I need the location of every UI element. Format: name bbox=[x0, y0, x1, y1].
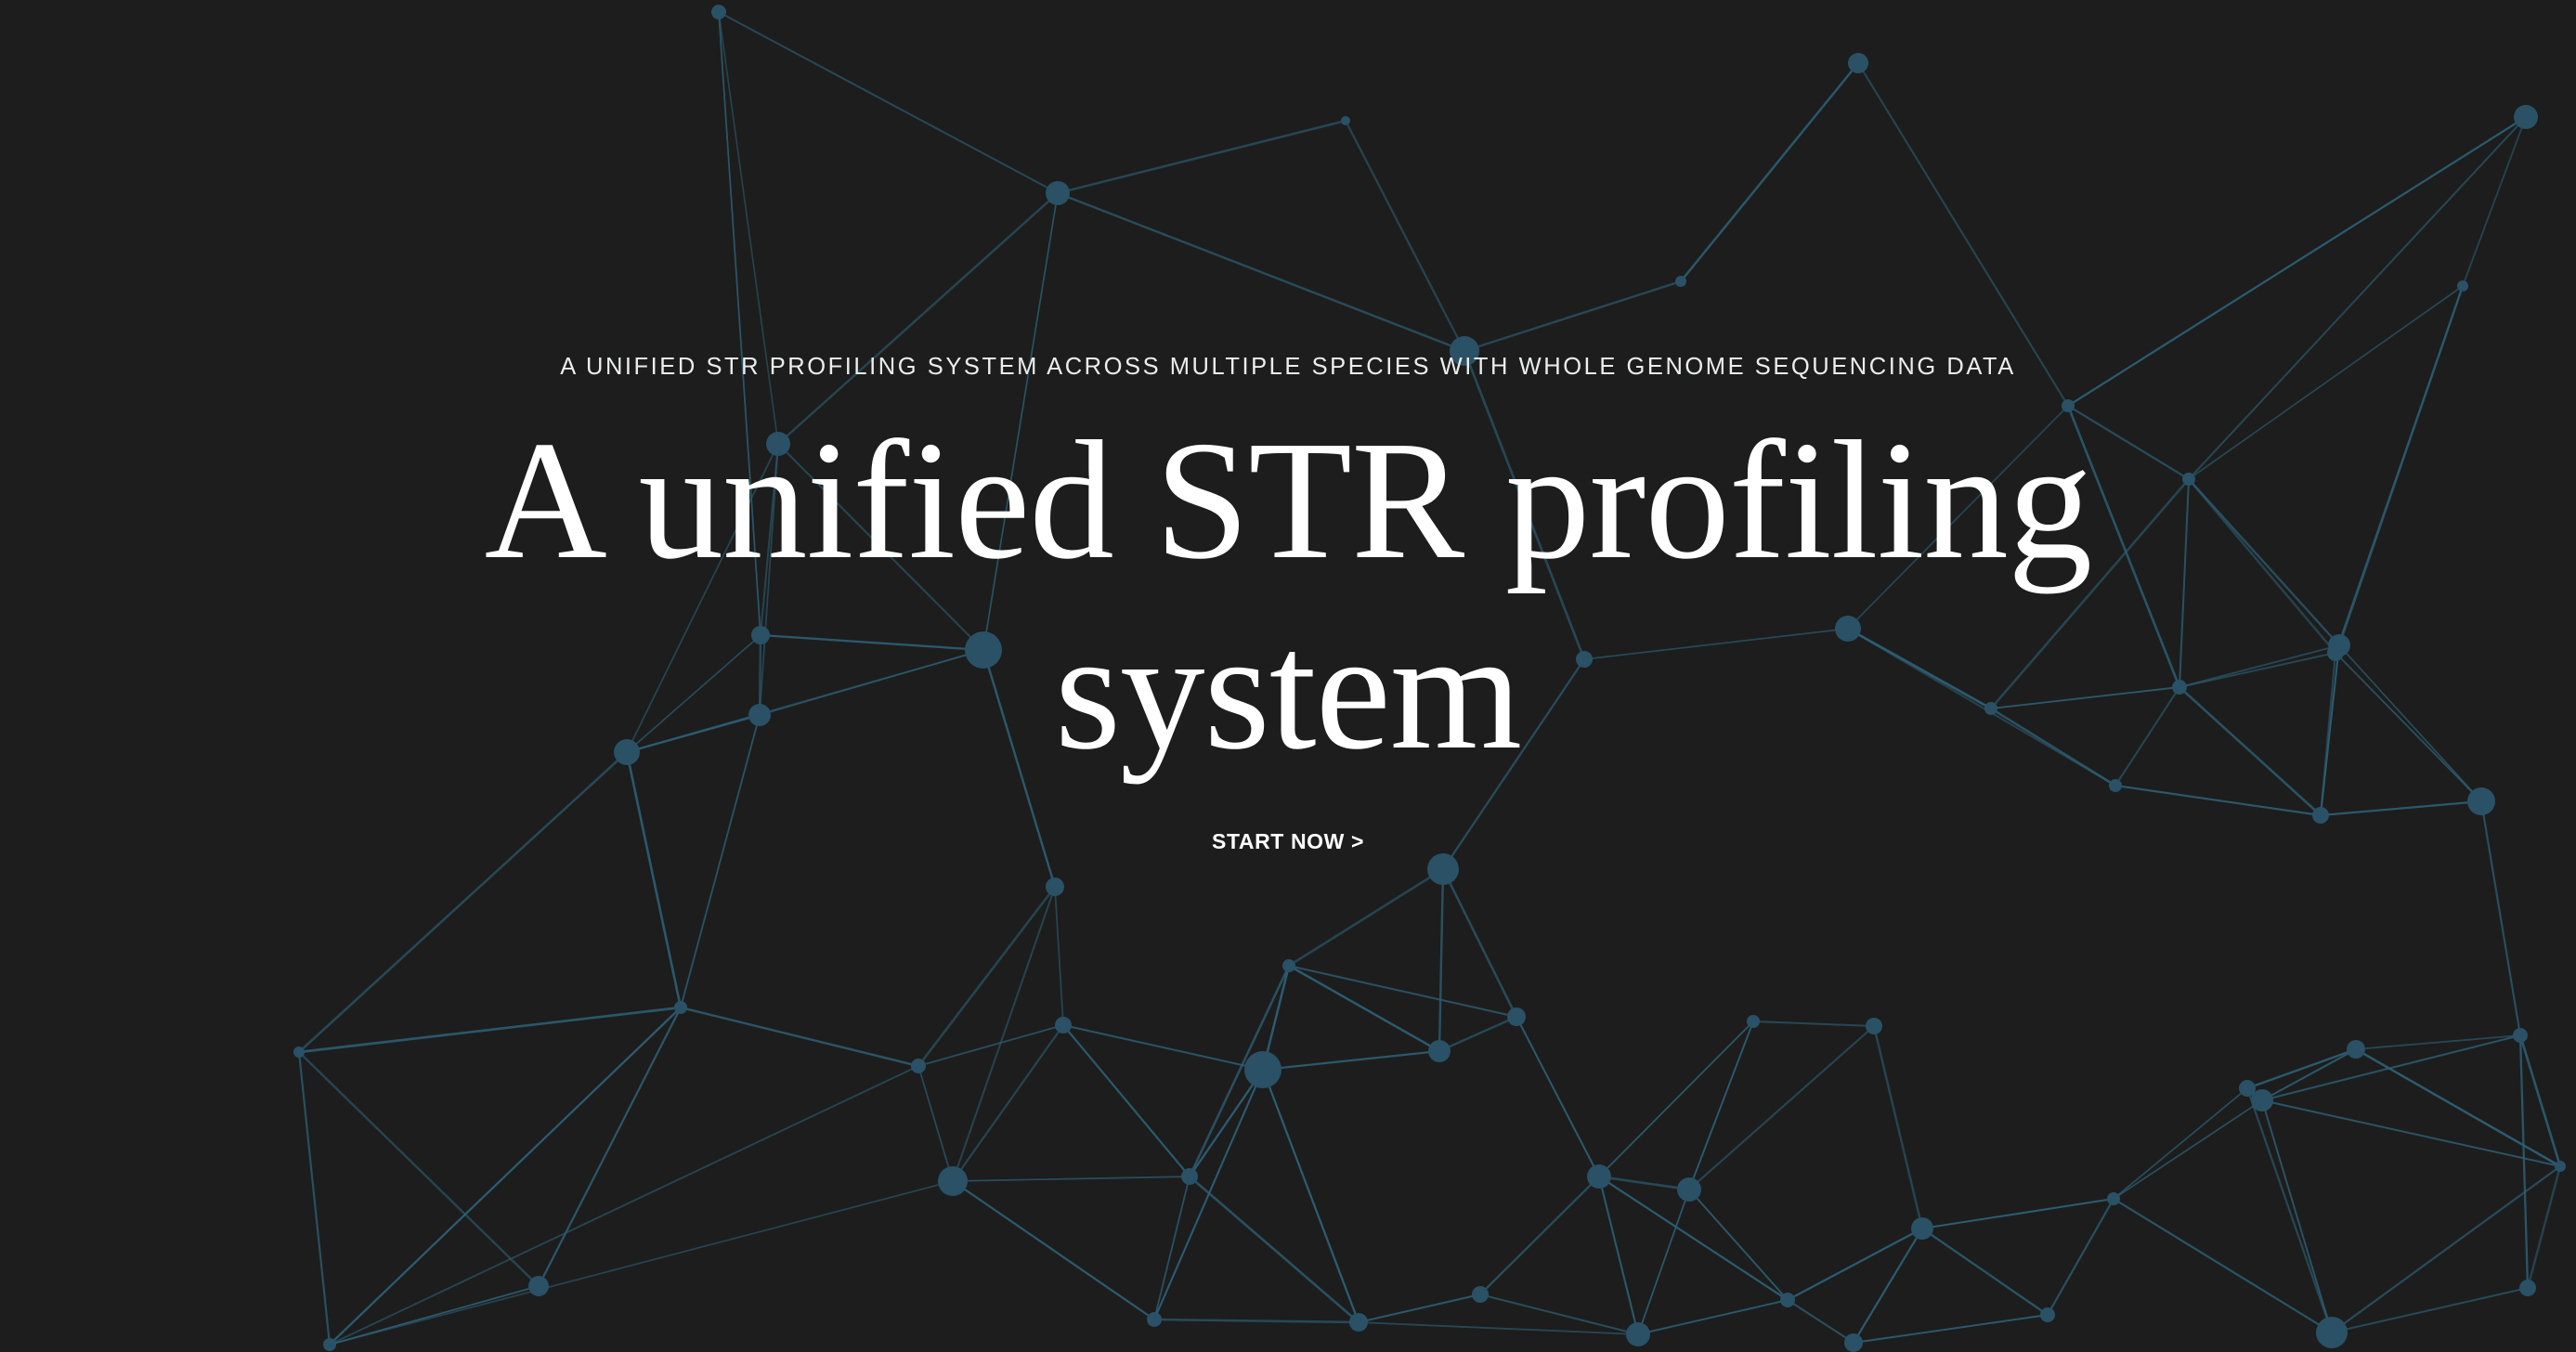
network-link bbox=[1689, 1026, 1874, 1189]
network-node bbox=[911, 1059, 926, 1073]
network-link bbox=[1599, 1176, 1689, 1189]
network-node bbox=[1046, 877, 1064, 896]
network-node bbox=[1055, 1017, 1072, 1033]
network-link bbox=[1154, 1070, 1263, 1319]
network-node bbox=[1244, 1051, 1281, 1088]
network-node bbox=[1507, 1007, 1526, 1026]
network-node bbox=[1780, 1293, 1795, 1307]
network-node bbox=[2457, 280, 2468, 292]
network-link bbox=[1922, 1228, 2048, 1315]
network-link bbox=[330, 1007, 681, 1345]
network-link bbox=[1854, 1315, 2048, 1343]
network-node bbox=[1282, 959, 1295, 972]
network-link bbox=[1063, 1025, 1263, 1070]
network-link bbox=[1190, 1176, 1359, 1322]
network-link bbox=[299, 1052, 539, 1286]
network-link bbox=[2339, 645, 2481, 801]
network-node bbox=[2312, 807, 2329, 824]
network-link bbox=[2262, 1049, 2356, 1100]
network-link bbox=[953, 1176, 1190, 1181]
network-link bbox=[2114, 1100, 2262, 1199]
network-link bbox=[539, 1007, 681, 1286]
network-link bbox=[953, 1181, 1154, 1319]
network-link bbox=[1063, 1025, 1190, 1176]
network-link bbox=[1443, 869, 1516, 1017]
network-link bbox=[2262, 1100, 2560, 1166]
network-link bbox=[1289, 869, 1443, 966]
network-link bbox=[1289, 966, 1439, 1051]
network-link bbox=[2247, 1088, 2332, 1332]
network-link bbox=[2321, 801, 2481, 815]
network-node bbox=[1046, 181, 1070, 205]
network-node bbox=[528, 1276, 549, 1296]
network-node bbox=[2514, 105, 2538, 129]
network-link bbox=[299, 1007, 681, 1052]
start-now-button[interactable]: START NOW > bbox=[1210, 825, 1366, 858]
network-node bbox=[674, 1001, 687, 1014]
network-link bbox=[1681, 63, 1858, 281]
network-link bbox=[1638, 1189, 1689, 1334]
network-node bbox=[1747, 1015, 1760, 1028]
network-node bbox=[2239, 1080, 2256, 1097]
network-link bbox=[1154, 1319, 1359, 1322]
network-node bbox=[2513, 1028, 2528, 1043]
network-link bbox=[1346, 121, 1464, 351]
network-link bbox=[1874, 1026, 1922, 1228]
network-node bbox=[1587, 1164, 1611, 1189]
network-node bbox=[1866, 1018, 1882, 1034]
network-link bbox=[1922, 1199, 2114, 1228]
network-node bbox=[2327, 644, 2344, 661]
network-node bbox=[1472, 1286, 1489, 1303]
network-link bbox=[2114, 1199, 2332, 1332]
network-link bbox=[1516, 1017, 1599, 1176]
network-link bbox=[2262, 1035, 2520, 1100]
network-node bbox=[1911, 1217, 1933, 1240]
network-link bbox=[1263, 1070, 1359, 1322]
network-link bbox=[2321, 645, 2339, 815]
network-link bbox=[1464, 281, 1681, 351]
network-link bbox=[1359, 1294, 1480, 1322]
network-node bbox=[293, 1046, 305, 1058]
network-link bbox=[2335, 653, 2481, 801]
network-link bbox=[330, 1066, 918, 1345]
network-link bbox=[1480, 1176, 1599, 1294]
network-link bbox=[1599, 1176, 1638, 1334]
network-node bbox=[1626, 1322, 1650, 1346]
network-link bbox=[1638, 1300, 1788, 1334]
network-link bbox=[1154, 1176, 1190, 1319]
network-link bbox=[1263, 1051, 1439, 1070]
network-node bbox=[2040, 1307, 2055, 1322]
network-link bbox=[2528, 1166, 2560, 1288]
network-link bbox=[2262, 1100, 2332, 1332]
network-link bbox=[2463, 117, 2526, 286]
network-link bbox=[1788, 1300, 1854, 1343]
network-node bbox=[1427, 853, 1459, 885]
network-node bbox=[1844, 1333, 1863, 1352]
network-node bbox=[2519, 1280, 2536, 1296]
network-link bbox=[2481, 801, 2520, 1035]
network-link bbox=[1289, 966, 1516, 1017]
network-link bbox=[719, 12, 1058, 193]
network-link bbox=[2115, 786, 2321, 815]
network-link bbox=[953, 887, 1055, 1181]
network-link bbox=[2335, 286, 2463, 653]
network-node bbox=[323, 1338, 336, 1351]
network-link bbox=[299, 752, 627, 1052]
hero-section: A UNIFIED STR PROFILING SYSTEM ACROSS MU… bbox=[0, 0, 2576, 1352]
network-link bbox=[1439, 869, 1443, 1051]
network-link bbox=[299, 1052, 330, 1345]
cta-container: START NOW > bbox=[1210, 825, 1366, 858]
network-node bbox=[1677, 1177, 1701, 1202]
network-link bbox=[330, 1181, 953, 1345]
network-node bbox=[2467, 787, 2495, 815]
network-link bbox=[2520, 1035, 2528, 1288]
network-link bbox=[1190, 1070, 1263, 1176]
network-link bbox=[918, 1066, 953, 1181]
network-node bbox=[2107, 1192, 2120, 1205]
network-node bbox=[2555, 1161, 2566, 1172]
network-link bbox=[1788, 1228, 1922, 1300]
network-link bbox=[1058, 193, 1464, 351]
network-link bbox=[918, 1025, 1063, 1066]
network-node bbox=[1181, 1168, 1198, 1185]
network-link bbox=[2114, 1088, 2247, 1199]
network-node bbox=[1848, 53, 1868, 73]
network-node bbox=[1428, 1040, 1451, 1062]
network-node bbox=[711, 5, 726, 19]
network-node bbox=[2347, 1040, 2365, 1059]
network-node bbox=[938, 1166, 968, 1196]
network-link bbox=[1439, 1017, 1516, 1051]
network-link bbox=[953, 1025, 1063, 1181]
network-link bbox=[1753, 1021, 1874, 1026]
hero-eyebrow: A UNIFIED STR PROFILING SYSTEM ACROSS MU… bbox=[560, 353, 2016, 382]
network-link bbox=[2247, 1049, 2356, 1088]
network-link bbox=[918, 887, 1055, 1066]
page-title: A unified STR profiling system bbox=[313, 406, 2263, 786]
network-link bbox=[1058, 121, 1346, 193]
network-link bbox=[681, 1007, 918, 1066]
network-link bbox=[1689, 1021, 1753, 1189]
network-link bbox=[2048, 1199, 2114, 1315]
network-node bbox=[2316, 1317, 2348, 1348]
network-link bbox=[1055, 887, 1063, 1025]
network-node bbox=[1147, 1312, 1162, 1327]
network-node bbox=[1341, 116, 1350, 125]
network-node bbox=[1675, 276, 1686, 287]
network-node bbox=[1349, 1313, 1368, 1332]
network-link bbox=[627, 752, 681, 1007]
